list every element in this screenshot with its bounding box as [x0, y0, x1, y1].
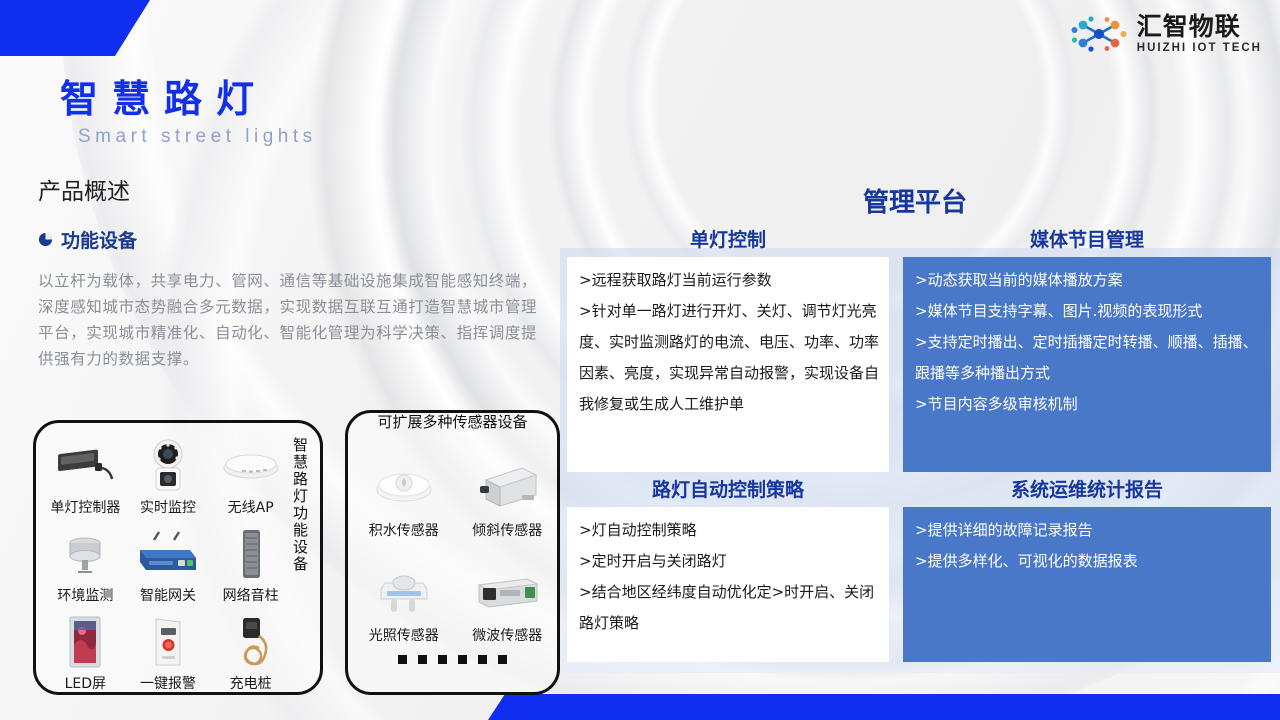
sensor-device-panel: 可扩展多种传感器设备 积水传感器	[345, 410, 560, 695]
environment-sensor-icon	[58, 525, 112, 583]
device-item[interactable]: 智能网关	[127, 517, 210, 605]
bottom-blue-accent	[0, 694, 1280, 720]
device-item[interactable]: 实时监控	[127, 429, 210, 517]
device-label: 网络音柱	[223, 585, 279, 605]
logo-name-en: HUIZHI IOT TECH	[1137, 43, 1262, 55]
page-title-cn: 智慧路灯	[60, 68, 268, 123]
card-media-program-management[interactable]: 媒体节目管理 >动态获取当前的媒体播放方案 >媒体节目支持字幕、图片.视频的表现…	[903, 225, 1271, 472]
card-line: >结合地区经纬度自动优化定>时开启、关闭路灯策略	[579, 577, 879, 639]
device-item[interactable]: 环境监测	[44, 517, 127, 605]
card-body: >动态获取当前的媒体播放方案 >媒体节目支持字幕、图片.视频的表现形式 >支持定…	[903, 257, 1271, 472]
sensor-grid: 积水传感器 倾斜传感器	[352, 435, 559, 645]
subsection-title-function-devices: 功能设备	[38, 226, 137, 253]
charging-pile-icon	[229, 613, 273, 671]
device-label: 智能网关	[140, 585, 196, 605]
slide-canvas: 汇智物联 HUIZHI IOT TECH 智慧路灯 Smart street l…	[0, 0, 1280, 720]
card-system-ops-statistics-report[interactable]: 系统运维统计报告 >提供详细的故障记录报告 >提供多样化、可视化的数据报表	[903, 475, 1271, 662]
ptz-camera-icon	[143, 437, 193, 495]
card-line: >灯自动控制策略	[579, 515, 879, 546]
card-line: >定时开启与关闭路灯	[579, 546, 879, 577]
card-body: >提供详细的故障记录报告 >提供多样化、可视化的数据报表	[903, 507, 1271, 662]
function-device-panel: 单灯控制器 实时监控	[33, 420, 323, 695]
device-item[interactable]: 一键报警	[127, 605, 210, 693]
device-label: 无线AP	[228, 497, 274, 517]
device-label: 单灯控制器	[50, 497, 120, 517]
card-title: 路灯自动控制策略	[567, 475, 889, 502]
emergency-call-icon	[147, 613, 189, 671]
device-item[interactable]: 网络音柱	[209, 517, 292, 605]
platform-title: 管理平台	[790, 182, 1040, 219]
sensor-panel-title: 可扩展多种传感器设备	[348, 411, 557, 432]
card-body: >远程获取路灯当前运行参数 >针对单一路灯进行开灯、关灯、调节灯光亮度、实时监测…	[567, 257, 889, 472]
microwave-sensor-icon	[471, 557, 543, 625]
wireless-ap-icon	[220, 437, 282, 495]
card-single-lamp-control[interactable]: 单灯控制 >远程获取路灯当前运行参数 >针对单一路灯进行开灯、关灯、调节灯光亮度…	[567, 225, 889, 472]
device-grid: 单灯控制器 实时监控	[44, 429, 292, 693]
top-left-blue-accent	[0, 0, 150, 56]
sensor-panel-dots	[348, 655, 557, 664]
sensor-label: 积水传感器	[369, 520, 439, 540]
sensor-item[interactable]: 微波传感器	[456, 540, 560, 645]
product-overview-paragraph: 以立杆为载体，共享电力、管网、通信等基础设施集成智能感知终端，深度感知城市态势融…	[38, 268, 538, 372]
subsection-title-label: 功能设备	[61, 226, 137, 253]
device-item[interactable]: 单灯控制器	[44, 429, 127, 517]
tilt-sensor-icon	[472, 452, 542, 520]
sensor-label: 倾斜传感器	[472, 520, 542, 540]
light-sensor-icon	[373, 557, 435, 625]
device-label: 一键报警	[140, 673, 196, 693]
sensor-item[interactable]: 积水传感器	[352, 435, 456, 540]
card-line: >提供多样化、可视化的数据报表	[915, 546, 1261, 577]
device-panel-vertical-label: 智慧路灯功能设备	[286, 437, 314, 573]
brand-logo: 汇智物联 HUIZHI IOT TECH	[1071, 14, 1262, 55]
device-label: LED屏	[65, 673, 106, 693]
card-body: >灯自动控制策略 >定时开启与关闭路灯 >结合地区经纬度自动优化定>时开启、关闭…	[567, 507, 889, 662]
network-speaker-icon	[234, 525, 268, 583]
card-line: >针对单一路灯进行开灯、关灯、调节灯光亮度、实时监测路灯的电流、电压、功率、功率…	[579, 296, 879, 420]
card-title: 媒体节目管理	[903, 225, 1271, 252]
device-label: 环境监测	[57, 585, 113, 605]
card-title: 系统运维统计报告	[903, 475, 1271, 502]
device-label: 实时监控	[140, 497, 196, 517]
network-nodes-icon	[1071, 14, 1129, 54]
pie-bullet-icon	[38, 232, 53, 247]
sensor-item[interactable]: 光照传感器	[352, 540, 456, 645]
device-item[interactable]: 充电桩	[209, 605, 292, 693]
page-title-en: Smart street lights	[78, 126, 317, 148]
water-level-sensor-icon	[371, 452, 437, 520]
sensor-item[interactable]: 倾斜传感器	[456, 435, 560, 540]
card-line: >媒体节目支持字幕、图片.视频的表现形式	[915, 296, 1261, 327]
card-line: >支持定时播出、定时插播定时转播、顺播、插播、跟播等多种播出方式	[915, 327, 1261, 389]
sensor-label: 微波传感器	[472, 625, 542, 645]
sensor-label: 光照传感器	[369, 625, 439, 645]
card-title: 单灯控制	[567, 225, 889, 252]
card-line: >动态获取当前的媒体播放方案	[915, 265, 1261, 296]
led-screen-icon	[65, 613, 105, 671]
section-title-product-overview: 产品概述	[38, 172, 130, 206]
smart-gateway-icon	[132, 525, 204, 583]
device-item[interactable]: LED屏	[44, 605, 127, 693]
card-lamp-auto-control-strategy[interactable]: 路灯自动控制策略 >灯自动控制策略 >定时开启与关闭路灯 >结合地区经纬度自动优…	[567, 475, 889, 662]
logo-name-cn: 汇智物联	[1137, 14, 1262, 39]
card-line: >提供详细的故障记录报告	[915, 515, 1261, 546]
power-driver-icon	[52, 437, 118, 495]
card-line: >远程获取路灯当前运行参数	[579, 265, 879, 296]
device-label: 充电桩	[230, 673, 272, 693]
device-item[interactable]: 无线AP	[209, 429, 292, 517]
card-line: >节目内容多级审核机制	[915, 389, 1261, 420]
